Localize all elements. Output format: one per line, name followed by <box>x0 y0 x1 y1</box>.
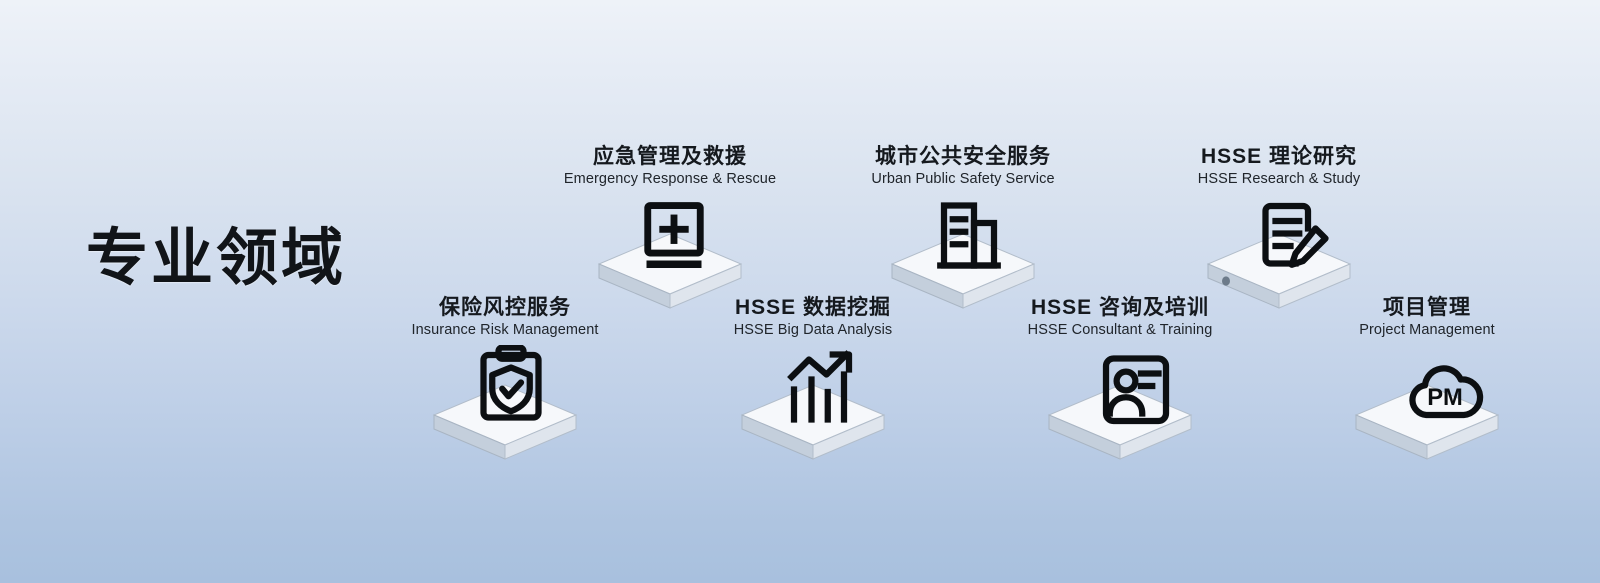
cloud-pm-icon: PM <box>1405 355 1485 435</box>
page-title: 专业领域 <box>86 228 346 290</box>
city-buildings-icon <box>929 198 1009 278</box>
domain-label-cn: HSSE 数据挖掘 <box>663 296 963 319</box>
domain-label-cn: HSSE 咨询及培训 <box>970 296 1270 319</box>
domain-card-hsse-research-study[interactable]: HSSE 理论研究 HSSE Research & Study <box>1129 145 1429 312</box>
domain-label-cn: HSSE 理论研究 <box>1129 145 1429 168</box>
domain-label-en: HSSE Research & Study <box>1129 172 1429 188</box>
domain-card-hsse-big-data-analysis[interactable]: HSSE 数据挖掘 HSSE Big Data Analysis <box>663 296 963 463</box>
professional-domains-banner: 专业领域 应急管理及救援 Emergency Response & Rescue <box>0 0 1600 583</box>
domain-icon-group <box>355 353 655 463</box>
bar-chart-trend-icon <box>779 347 859 427</box>
domain-label-en: Emergency Response & Rescue <box>520 172 820 188</box>
person-id-card-icon <box>1096 351 1176 431</box>
cloud-pm-label: PM <box>1427 384 1463 411</box>
domain-icon-group: PM <box>1277 353 1577 463</box>
domain-icon-group <box>663 353 963 463</box>
domain-label-en: HSSE Consultant & Training <box>970 323 1270 339</box>
domain-icon-group <box>970 353 1270 463</box>
domain-label-en: HSSE Big Data Analysis <box>663 323 963 339</box>
domain-card-project-management[interactable]: 项目管理 Project Management PM <box>1277 296 1577 463</box>
domain-label-en: Urban Public Safety Service <box>813 172 1113 188</box>
domain-card-hsse-consultant-training[interactable]: HSSE 咨询及培训 HSSE Consultant & Training <box>970 296 1270 463</box>
domain-card-emergency-response-rescue[interactable]: 应急管理及救援 Emergency Response & Rescue <box>520 145 820 312</box>
domain-label-cn: 保险风控服务 <box>355 296 655 319</box>
clipboard-shield-check-icon <box>471 345 551 425</box>
domain-card-insurance-risk-management[interactable]: 保险风控服务 Insurance Risk Management <box>355 296 655 463</box>
document-pencil-icon <box>1253 196 1333 276</box>
domain-label-cn: 项目管理 <box>1277 296 1577 319</box>
domain-label-en: Project Management <box>1277 323 1577 339</box>
domain-label-en: Insurance Risk Management <box>355 323 655 339</box>
monitor-plus-icon <box>634 198 714 278</box>
domain-card-urban-public-safety-service[interactable]: 城市公共安全服务 Urban Public Safety Service <box>813 145 1113 312</box>
domain-label-cn: 应急管理及救援 <box>520 145 820 168</box>
domain-label-cn: 城市公共安全服务 <box>813 145 1113 168</box>
